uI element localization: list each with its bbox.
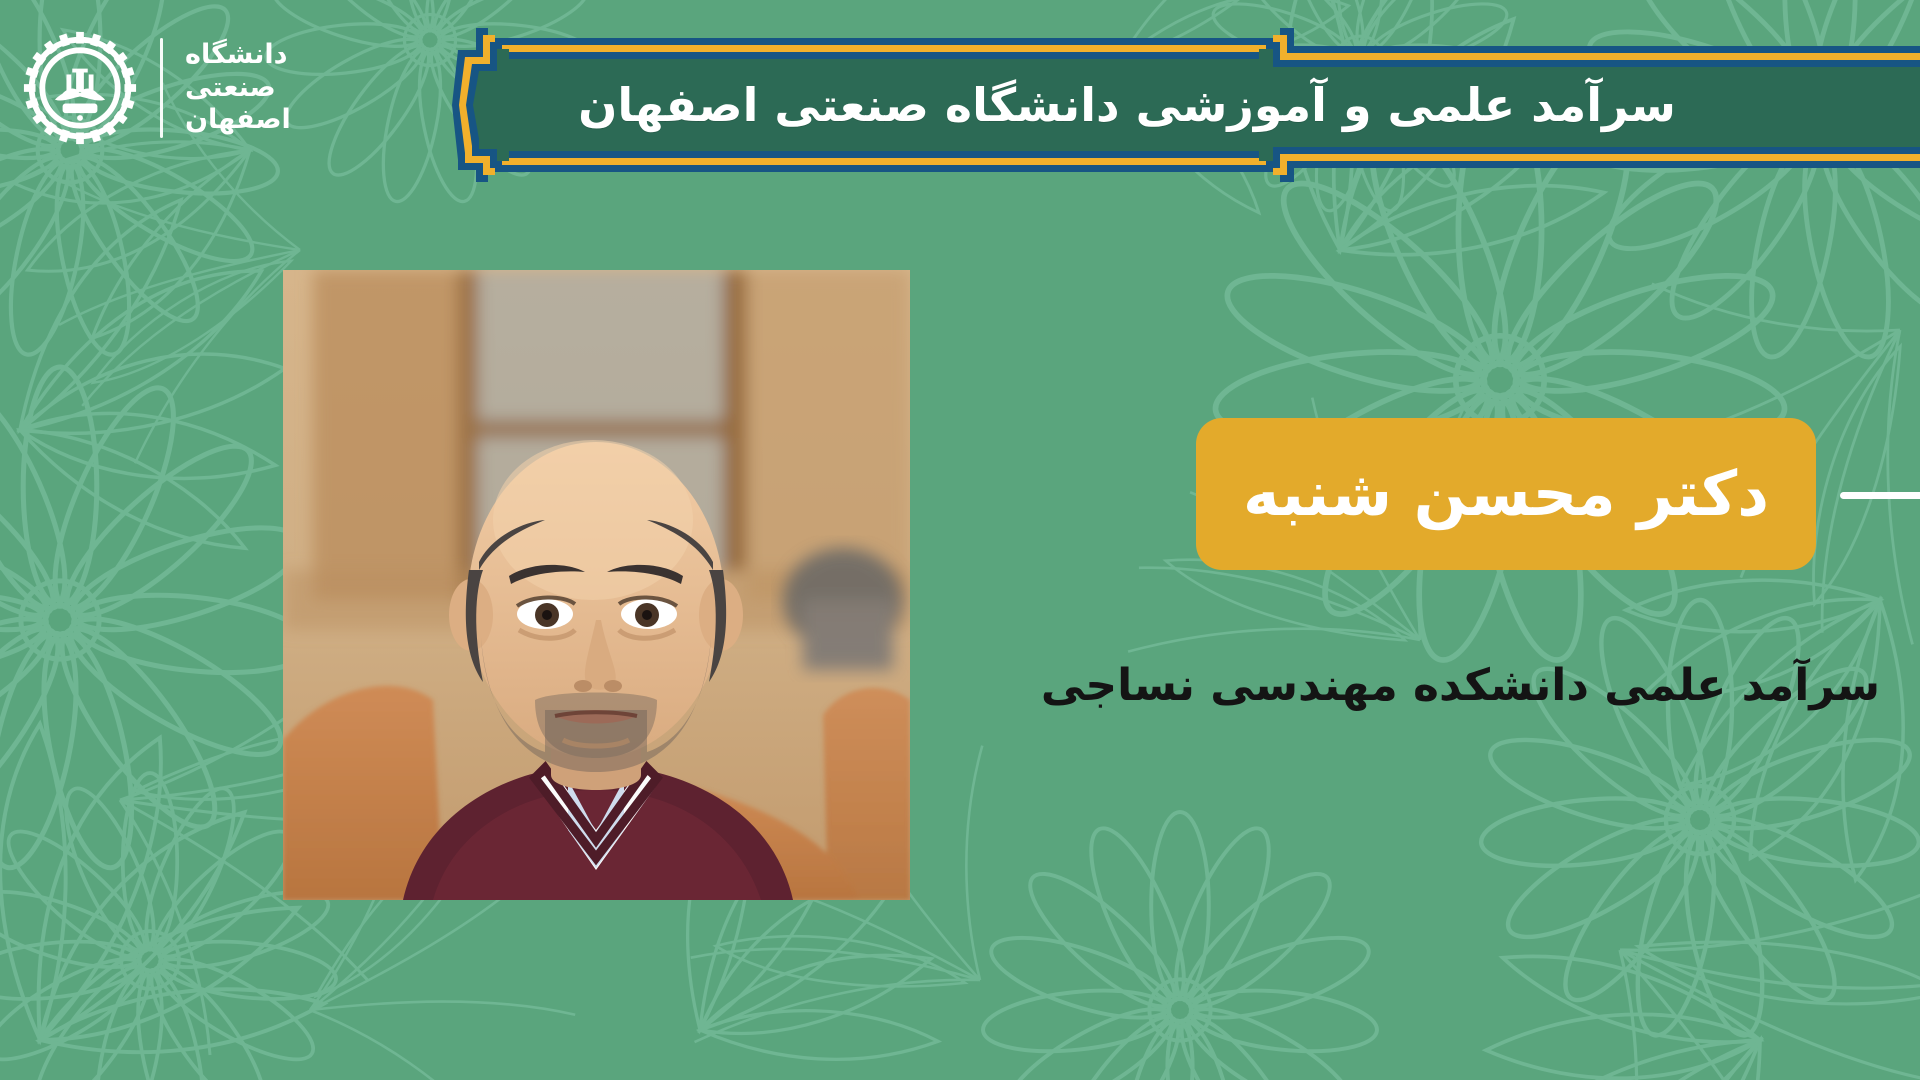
iut-gear-emblem-icon (22, 30, 138, 146)
portrait-photo (283, 270, 910, 900)
logo-divider (160, 38, 163, 138)
university-name-line-2: صنعتی (185, 72, 276, 105)
university-name-line-1: دانشگاه (185, 39, 288, 72)
portrait-illustration (283, 270, 910, 900)
speaker-subtitle: سرآمد علمی دانشکده مهندسی نساجی (1040, 640, 1880, 730)
university-name-line-3: اصفهان (185, 104, 291, 137)
speaker-name: دکتر محسن شنبه (1243, 463, 1769, 525)
university-name: دانشگاه صنعتی اصفهان (185, 39, 291, 138)
speaker-name-badge: دکتر محسن شنبه (1196, 418, 1816, 570)
title-ribbon: سرآمد علمی و آموزشی دانشگاه صنعتی اصفهان (452, 20, 1920, 190)
poster-canvas: دانشگاه صنعتی اصفهان سرآمد علمی و آموزشی… (0, 0, 1920, 1080)
ribbon-title: سرآمد علمی و آموزشی دانشگاه صنعتی اصفهان (452, 20, 1842, 190)
university-logo: دانشگاه صنعتی اصفهان (22, 18, 291, 158)
badge-accent-rule (1840, 492, 1920, 499)
